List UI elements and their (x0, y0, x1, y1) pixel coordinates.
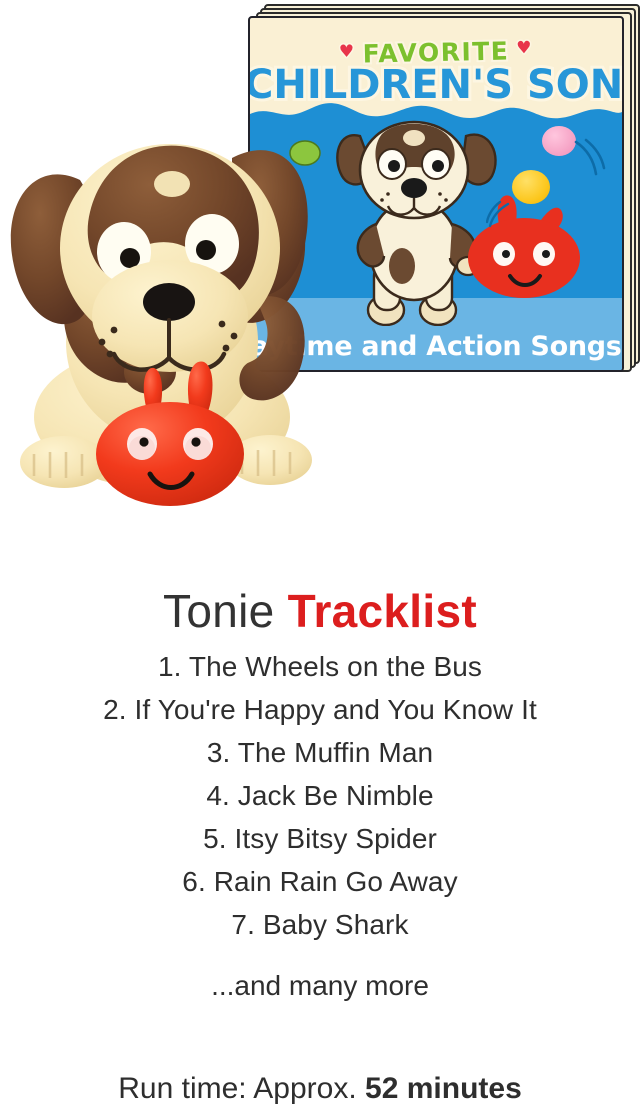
page-title-plain: Tonie (163, 585, 288, 637)
track-item: 7. Baby Shark (0, 903, 640, 946)
track-item: 3. The Muffin Man (0, 731, 640, 774)
tonie-figurine (0, 62, 324, 512)
run-time-value: 52 minutes (365, 1072, 522, 1105)
cover-yellow-ball (512, 170, 550, 204)
product-image: ♥FAVORITE♥ CHILDREN'S SONGS aytime and A… (0, 0, 640, 520)
track-item: 4. Jack Be Nimble (0, 774, 640, 817)
tracklist: 1. The Wheels on the Bus 2. If You're Ha… (0, 645, 640, 946)
track-item: 2. If You're Happy and You Know It (0, 688, 640, 731)
track-item: 1. The Wheels on the Bus (0, 645, 640, 688)
cover-title-favorite-text: FAVORITE (362, 36, 509, 68)
page-title-accent: Tracklist (288, 585, 477, 637)
page-title: Tonie Tracklist (0, 584, 640, 638)
motion-lines-pink-icon (572, 138, 608, 178)
run-time-label: Run time: Approx. (118, 1072, 365, 1105)
heart-icon-right: ♥ (516, 38, 533, 58)
motion-lines-yellow-icon (486, 200, 514, 230)
track-item: 5. Itsy Bitsy Spider (0, 817, 640, 860)
track-item: 6. Rain Rain Go Away (0, 860, 640, 903)
run-time-line: Run time: Approx. 52 minutes (0, 1072, 640, 1106)
cover-pink-ball (542, 126, 576, 156)
heart-icon-left: ♥ (339, 42, 356, 62)
and-many-more-note: ...and many more (0, 970, 640, 1002)
